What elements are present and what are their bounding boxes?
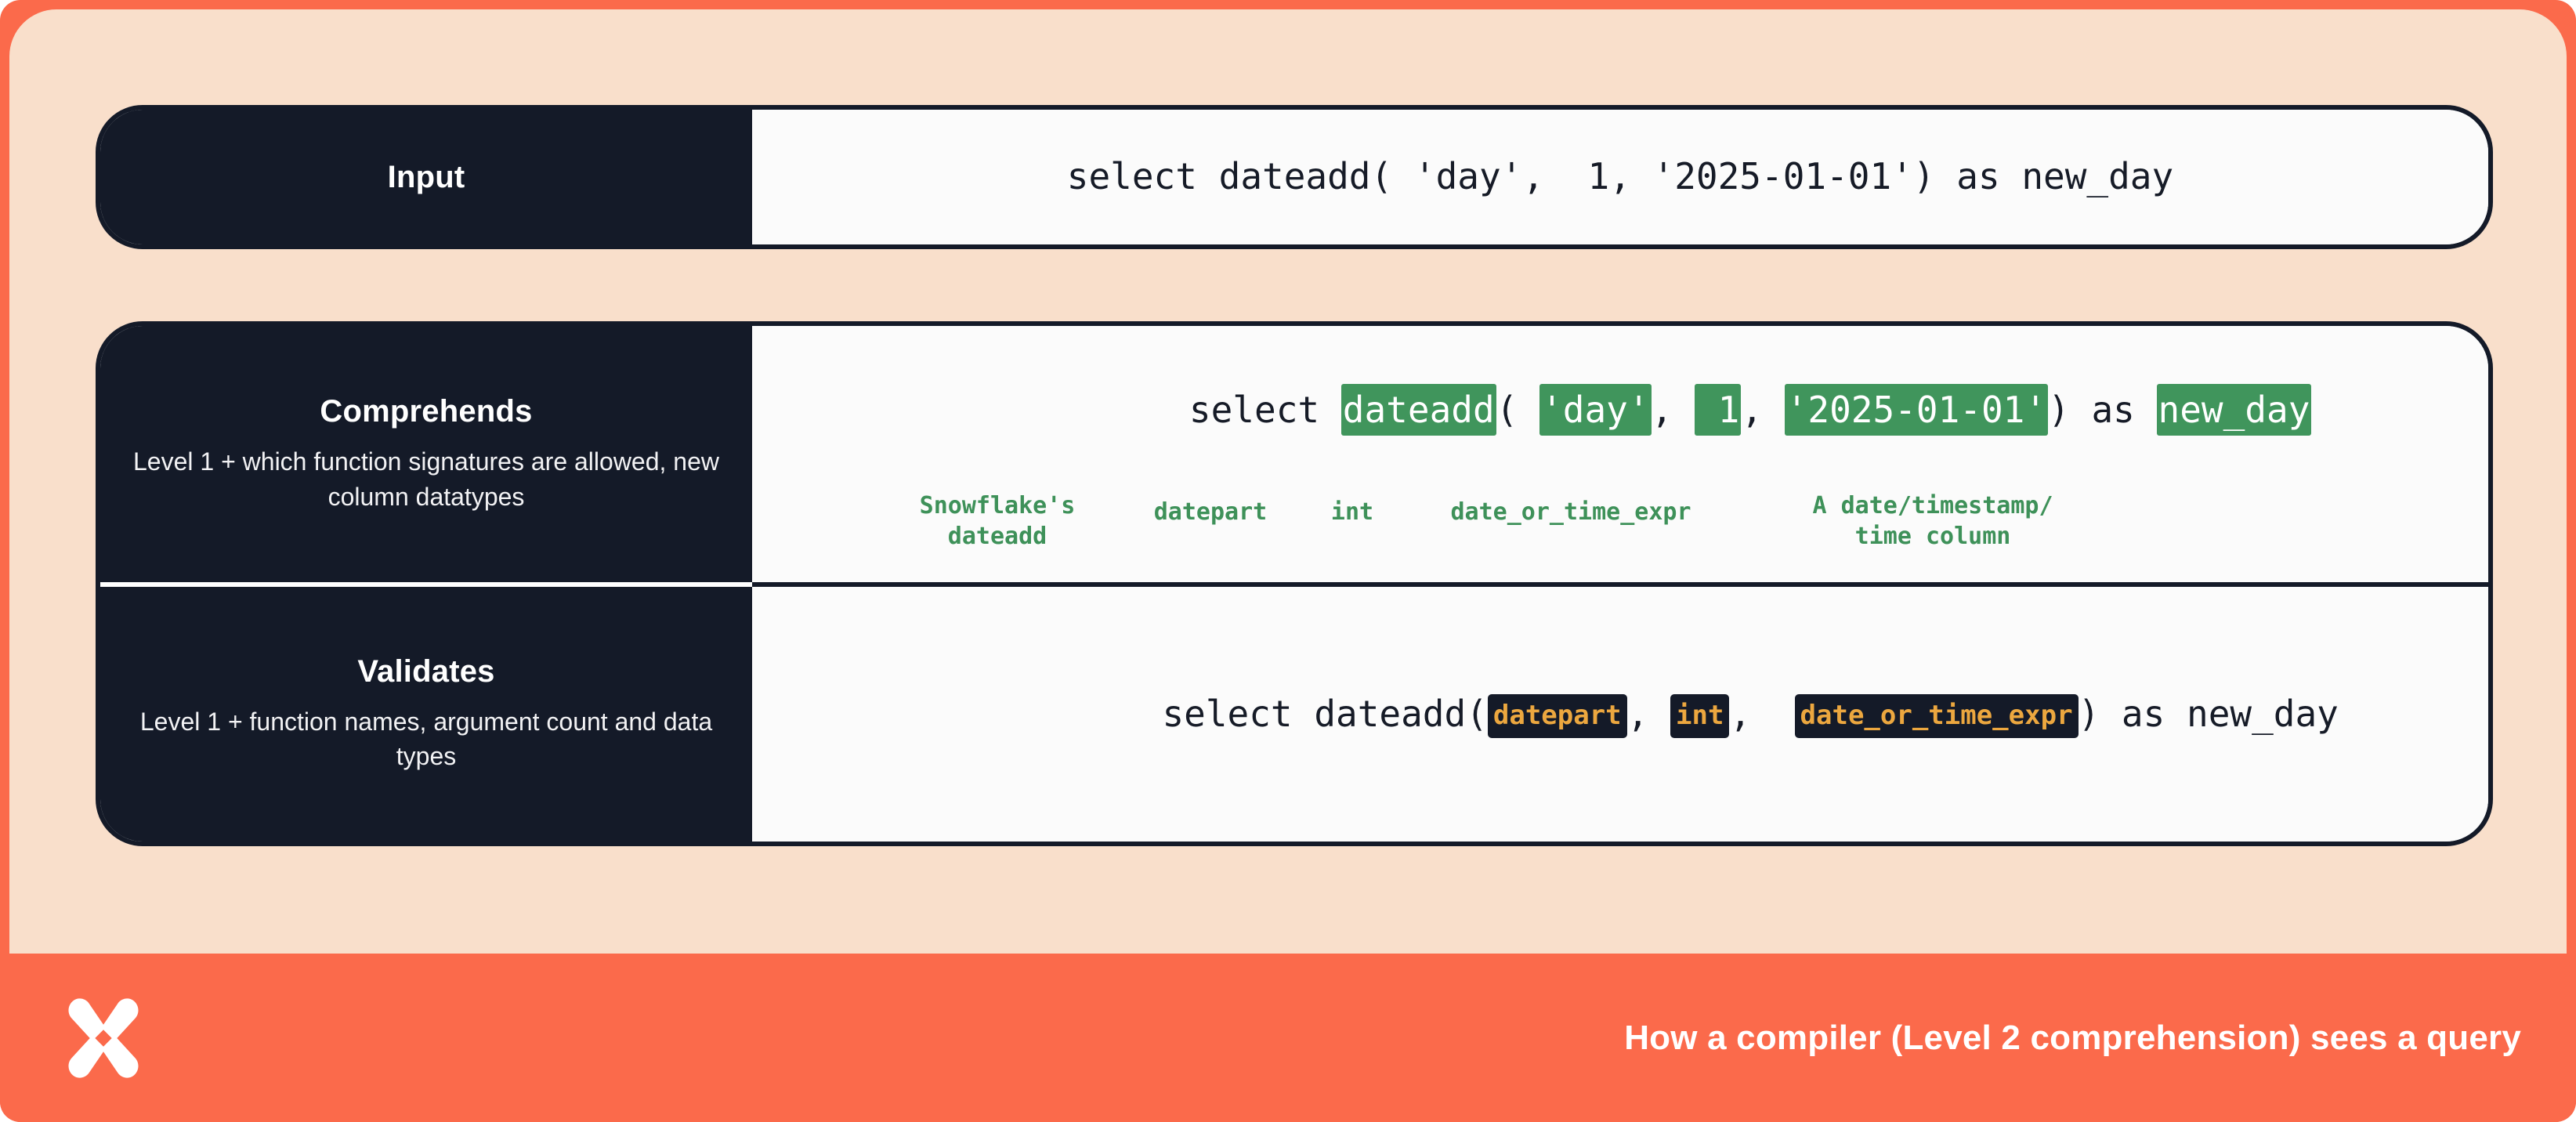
validates-code-suffix: ) as new_day — [2079, 693, 2339, 735]
input-code-column: select dateadd( 'day', 1, '2025-01-01') … — [752, 110, 2488, 244]
levels-card: Comprehends Level 1 + which function sig… — [96, 321, 2493, 846]
annotation-datepart: datepart — [1120, 497, 1301, 528]
comprehends-code-line: select dateadd( 'day', 1, '2025-01-01') … — [929, 342, 2312, 478]
validates-label-description: Level 1 + function names, argument count… — [127, 704, 725, 773]
highlight-arg-datepart: 'day' — [1539, 384, 1651, 436]
comprehends-code-column: select dateadd( 'day', 1, '2025-01-01') … — [752, 326, 2488, 582]
star-x-logo — [61, 996, 146, 1080]
validates-code-prefix: select dateadd( — [1162, 693, 1487, 735]
comprehends-label-description: Level 1 + which function signatures are … — [127, 444, 725, 513]
input-label-column: Input — [100, 110, 752, 244]
validates-row: Validates Level 1 + function names, argu… — [100, 587, 2488, 841]
validates-code-line: select dateadd(datepart, int, date_or_ti… — [902, 646, 2339, 782]
comprehends-label-column: Comprehends Level 1 + which function sig… — [100, 326, 752, 582]
highlight-function-name: dateadd — [1341, 384, 1496, 436]
annotation-function-name: Snowflake's dateadd — [892, 490, 1103, 552]
highlight-alias: new_day — [2157, 384, 2312, 436]
comprehends-annotations: Snowflake's dateadd datepart int date_or… — [752, 490, 2488, 577]
comprehends-row: Comprehends Level 1 + which function sig… — [100, 326, 2488, 582]
footer-caption: How a compiler (Level 2 comprehension) s… — [1624, 1019, 2521, 1058]
comma-2: , — [1741, 389, 1784, 431]
comprehends-label-title: Comprehends — [320, 394, 532, 429]
comma-1: , — [1652, 389, 1695, 431]
highlight-arg-int: 1 — [1695, 384, 1741, 436]
input-code-line: select dateadd( 'day', 1, '2025-01-01') … — [1067, 154, 2173, 200]
paren-close: ) — [2048, 389, 2091, 431]
chip-date-or-time-expr: date_or_time_expr — [1795, 694, 2079, 738]
content-canvas: Input select dateadd( 'day', 1, '2025-01… — [9, 9, 2567, 954]
input-label-title: Input — [388, 160, 465, 194]
annotation-alias-type: A date/timestamp/ time column — [1757, 490, 2109, 552]
validates-comma-2: , — [1729, 693, 1794, 735]
chip-datepart: datepart — [1488, 694, 1627, 738]
annotation-date-or-time-expr: date_or_time_expr — [1395, 497, 1747, 528]
infographic-frame: Input select dateadd( 'day', 1, '2025-01… — [0, 0, 2576, 1122]
chip-int: int — [1670, 694, 1729, 738]
paren-open: ( — [1496, 389, 1539, 431]
validates-code-column: select dateadd(datepart, int, date_or_ti… — [752, 587, 2488, 841]
annotation-int: int — [1305, 497, 1399, 528]
validates-label-title: Validates — [357, 654, 494, 689]
validates-label-column: Validates Level 1 + function names, argu… — [100, 587, 752, 841]
footer-bar: How a compiler (Level 2 comprehension) s… — [0, 954, 2576, 1122]
input-card: Input select dateadd( 'day', 1, '2025-01… — [96, 105, 2493, 249]
validates-comma-1: , — [1627, 693, 1670, 735]
highlight-arg-date-expr: '2025-01-01' — [1785, 384, 2048, 436]
kw-select: select — [1189, 389, 1341, 431]
kw-as: as — [2091, 389, 2156, 431]
